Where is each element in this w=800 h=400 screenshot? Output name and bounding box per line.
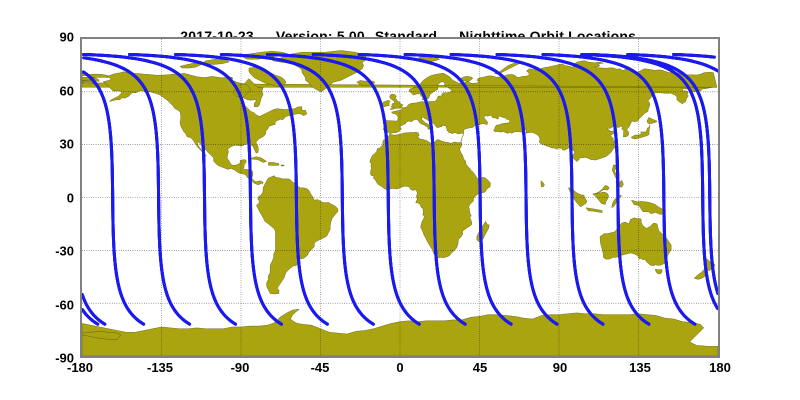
landmass (600, 218, 671, 266)
plot-canvas (82, 39, 718, 356)
x-tick-label: 90 (553, 360, 567, 375)
x-tick-label: 0 (396, 360, 403, 375)
landmass (281, 165, 284, 166)
x-tick-label: -180 (67, 360, 93, 375)
landmass-layer (82, 50, 718, 356)
landmass (250, 157, 267, 163)
orbit-map-figure: 2017-10-23Version: 5.00StandardNighttime… (0, 0, 800, 400)
landmass (205, 59, 230, 64)
landmass (477, 221, 489, 242)
orbit-track (674, 55, 715, 58)
y-tick-label: 0 (14, 190, 74, 205)
x-tick-label: -135 (147, 360, 173, 375)
world-map-with-orbit-tracks (82, 39, 718, 356)
landmass (382, 100, 390, 107)
plot-frame (80, 37, 720, 358)
y-tick-label: 30 (14, 137, 74, 152)
y-tick-label: -60 (14, 297, 74, 312)
x-tick-label: 45 (473, 360, 487, 375)
landmass (631, 200, 665, 214)
landmass (390, 94, 403, 109)
x-tick-label: -90 (231, 360, 250, 375)
landmass (541, 181, 545, 187)
landmass (655, 269, 662, 274)
y-tick-label: -30 (14, 244, 74, 259)
x-tick-label: 135 (629, 360, 651, 375)
landmass (268, 162, 279, 165)
orbit-track (83, 72, 143, 324)
landmass (593, 192, 609, 204)
y-tick-label: -90 (14, 351, 74, 366)
y-tick-label: 90 (14, 30, 74, 45)
landmass (586, 208, 602, 213)
x-tick-label: -45 (311, 360, 330, 375)
y-tick-label: 60 (14, 83, 74, 98)
landmass (82, 309, 718, 356)
x-tick-label: 180 (709, 360, 731, 375)
landmass (631, 125, 650, 139)
landmass (647, 117, 657, 124)
